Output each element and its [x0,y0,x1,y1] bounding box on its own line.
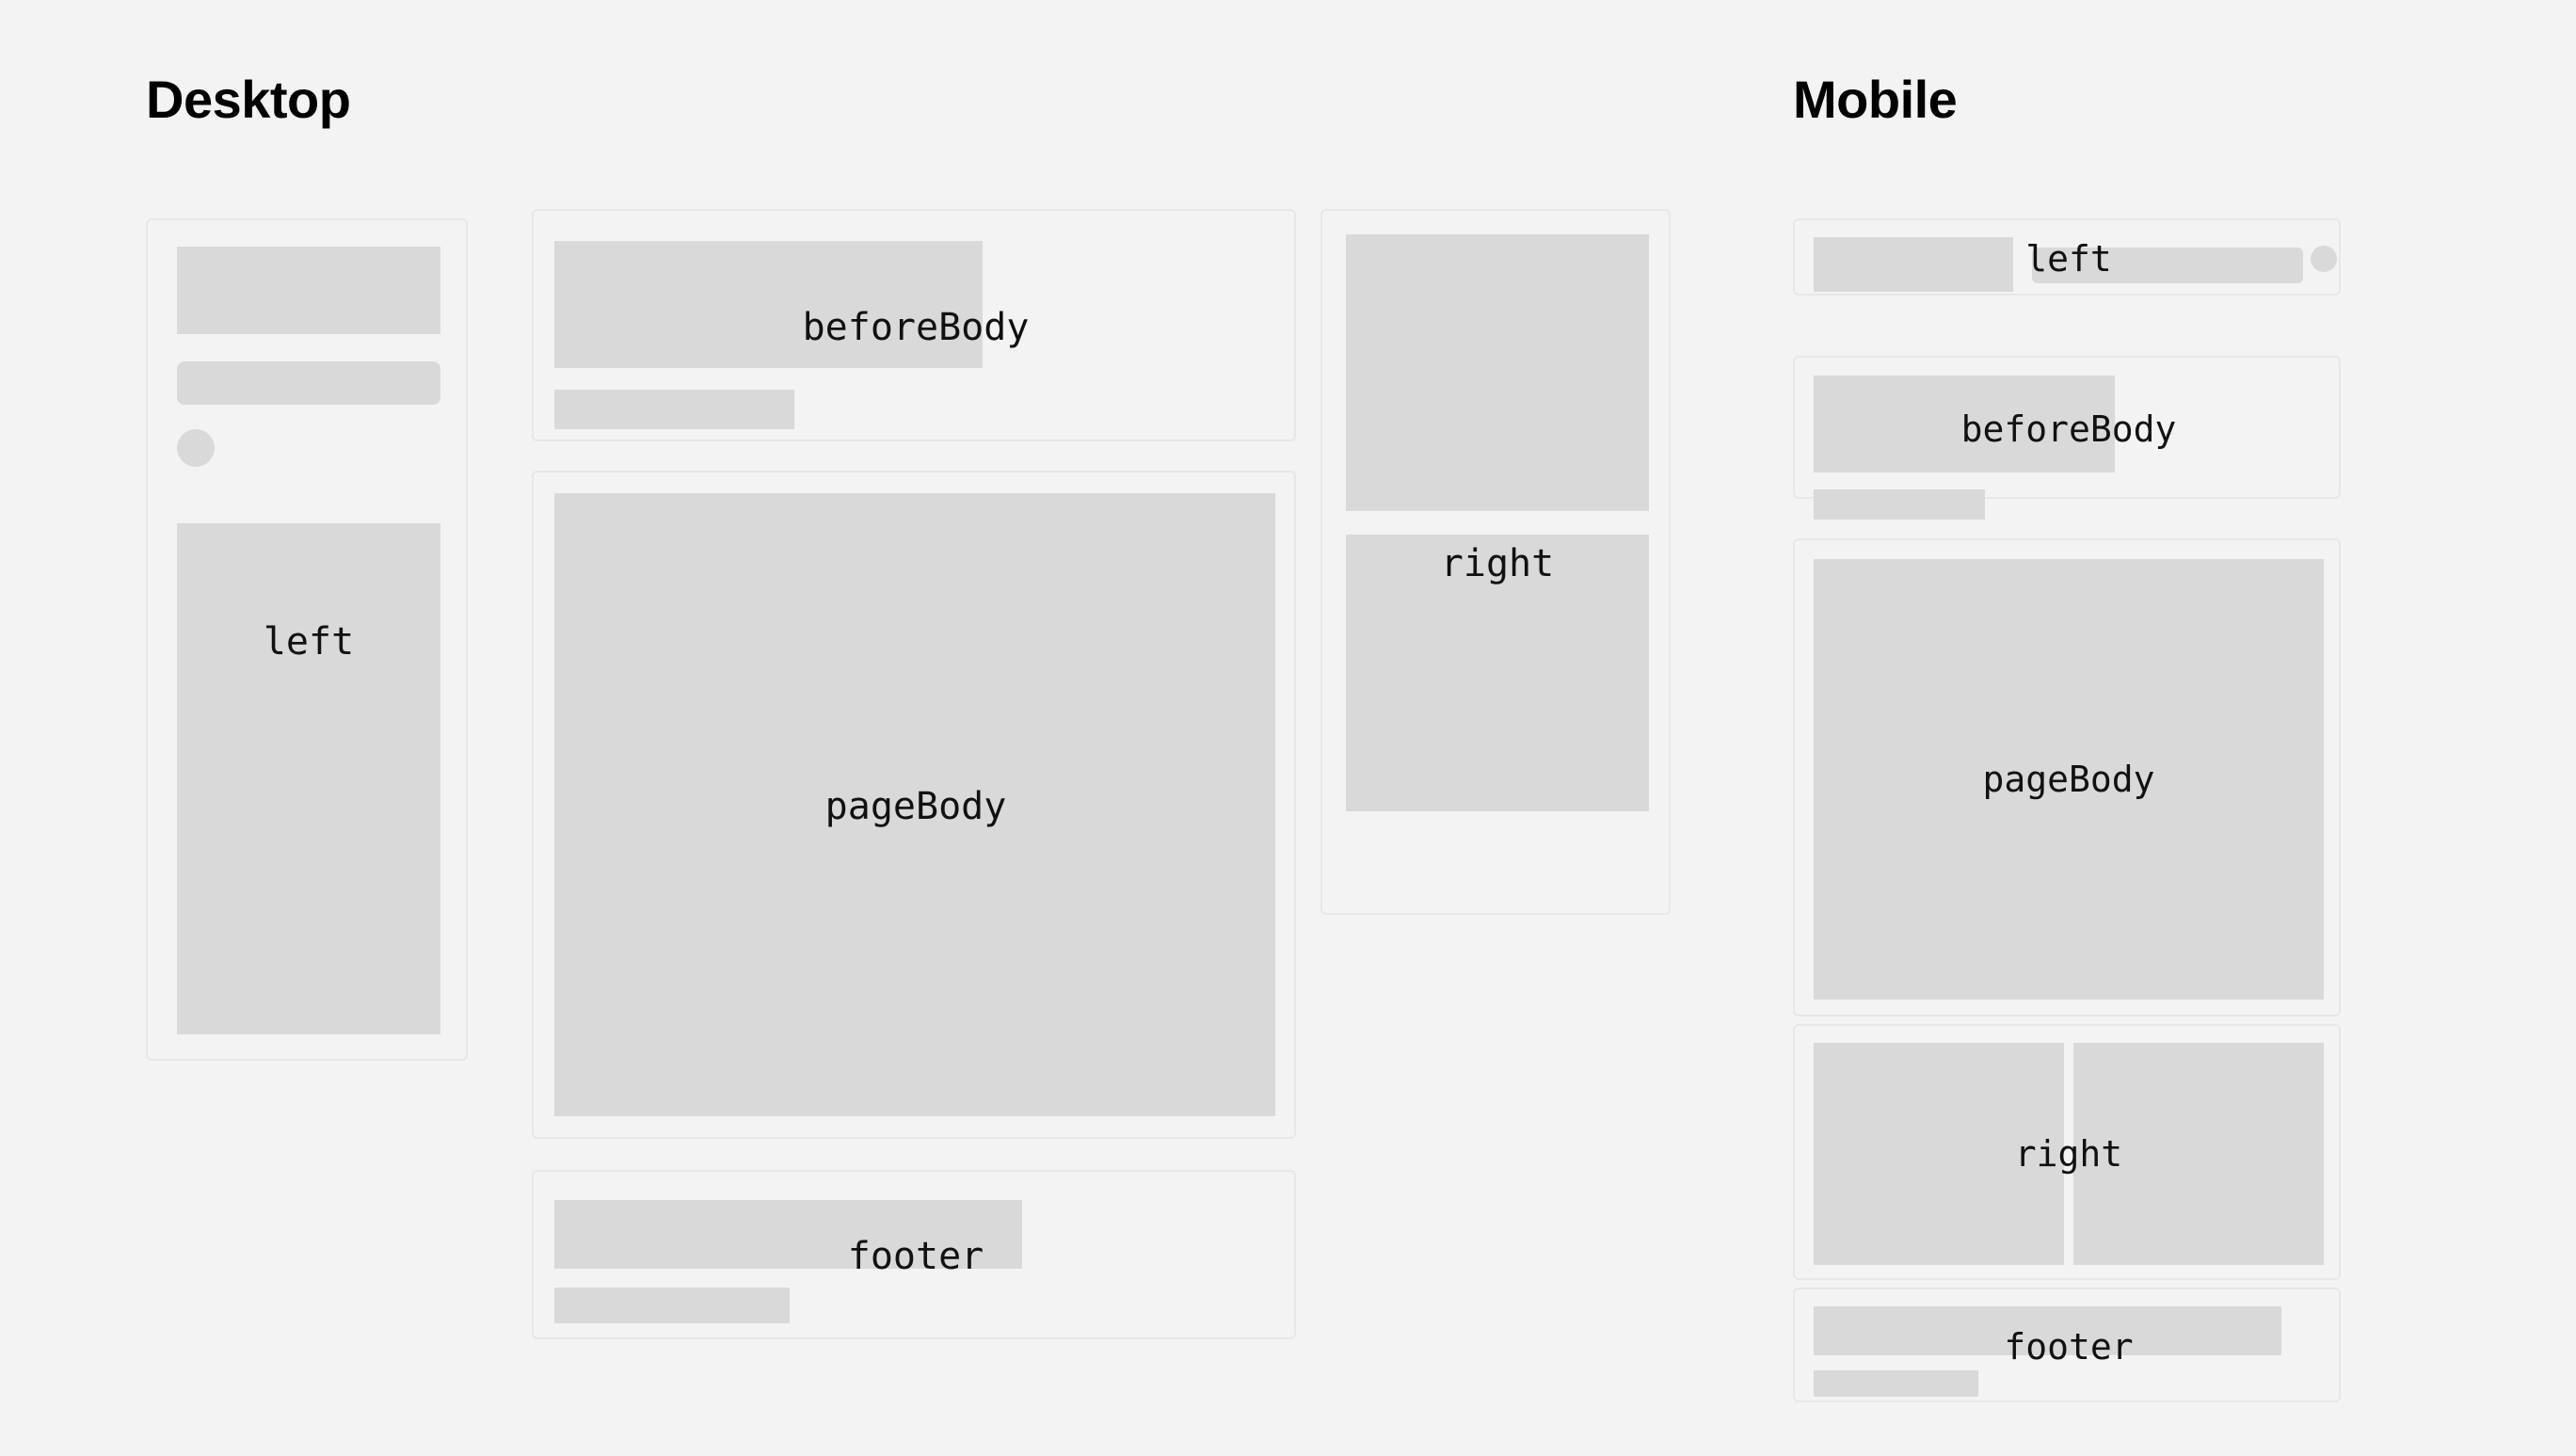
mobile-slot-pagebody[interactable]: pageBody [1793,538,2341,1016]
placeholder-block-fill [1814,559,2324,1000]
mobile-slot-beforebody[interactable]: beforeBody [1793,356,2341,499]
placeholder-bar-small [554,1288,790,1323]
placeholder-bar-small [554,390,794,429]
placeholder-block-wide [554,241,983,368]
placeholder-bar-rounded [2032,248,2303,283]
mobile-slot-left[interactable]: left [1793,218,2341,296]
placeholder-block-column [177,523,440,1034]
desktop-section-title: Desktop [146,73,350,126]
desktop-slot-pagebody[interactable]: pageBody [532,471,1296,1139]
placeholder-block-top [1346,234,1649,511]
placeholder-bar-rounded [177,361,440,405]
placeholder-bar-small [1814,489,1985,520]
avatar-circle-icon [177,429,215,467]
desktop-slot-left[interactable]: left [146,218,468,1061]
placeholder-block-right [2073,1043,2324,1265]
avatar-circle-icon [2311,246,2337,272]
placeholder-bar-wide [1814,1306,2281,1355]
placeholder-block-bottom [1346,535,1649,811]
mobile-slot-footer[interactable]: footer [1793,1288,2341,1402]
placeholder-block-wide [1814,376,2115,472]
mobile-section-title: Mobile [1793,73,1957,126]
wireframe-canvas: Desktop Mobile left beforeBody pageBody … [0,0,2576,1456]
placeholder-bar-small [1814,1370,1978,1397]
mobile-slot-right[interactable]: right [1793,1024,2341,1280]
placeholder-bar-wide [554,1200,1022,1269]
placeholder-block-tall [177,247,440,334]
placeholder-block-left [1814,1043,2064,1265]
desktop-slot-beforebody[interactable]: beforeBody [532,209,1296,441]
placeholder-block-fill [554,493,1275,1116]
placeholder-block-rect [1814,237,2013,292]
desktop-slot-right[interactable]: right [1320,209,1671,915]
desktop-slot-footer[interactable]: footer [532,1170,1296,1339]
